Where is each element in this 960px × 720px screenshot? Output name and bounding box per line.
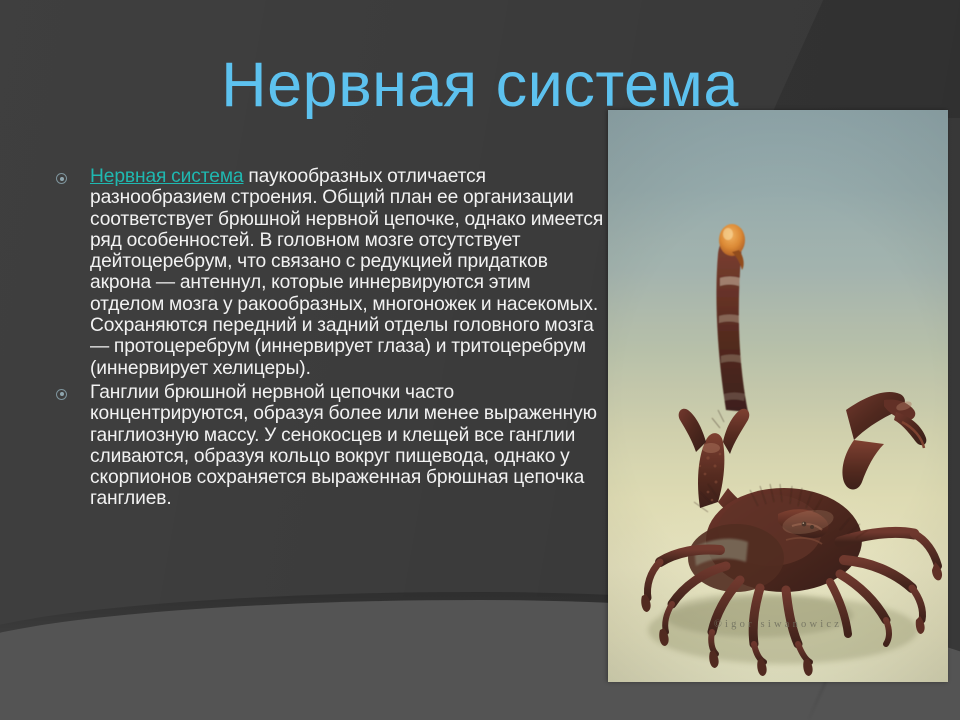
- photo-watermark: ©igor siwanowicz: [608, 619, 948, 630]
- nervous-system-hyperlink[interactable]: Нервная система: [90, 166, 244, 187]
- list-item: Ганглии брюшной нервной цепочки часто ко…: [56, 382, 604, 510]
- ring-dot-bullet-icon: [56, 389, 67, 400]
- slide-title: Нервная система: [0, 52, 960, 119]
- bullet-body-text: Ганглии брюшной нервной цепочки часто ко…: [90, 382, 597, 509]
- ring-dot-bullet-icon: [56, 173, 67, 184]
- presentation-slide: Нервная система Нервная система паукообр…: [0, 0, 960, 720]
- bullet-paragraph: Ганглии брюшной нервной цепочки часто ко…: [90, 382, 604, 510]
- bullet-body-text: паукообразных отличается разнообразием с…: [90, 166, 603, 379]
- bullet-marker: [56, 382, 90, 400]
- list-item: Нервная система паукообразных отличается…: [56, 166, 604, 379]
- bullet-marker: [56, 166, 90, 184]
- bullet-paragraph: Нервная система паукообразных отличается…: [90, 166, 604, 379]
- photo-vignette: [608, 110, 948, 682]
- scorpion-photo[interactable]: ©igor siwanowicz: [608, 110, 948, 682]
- slide-body: Нервная система паукообразных отличается…: [56, 166, 604, 513]
